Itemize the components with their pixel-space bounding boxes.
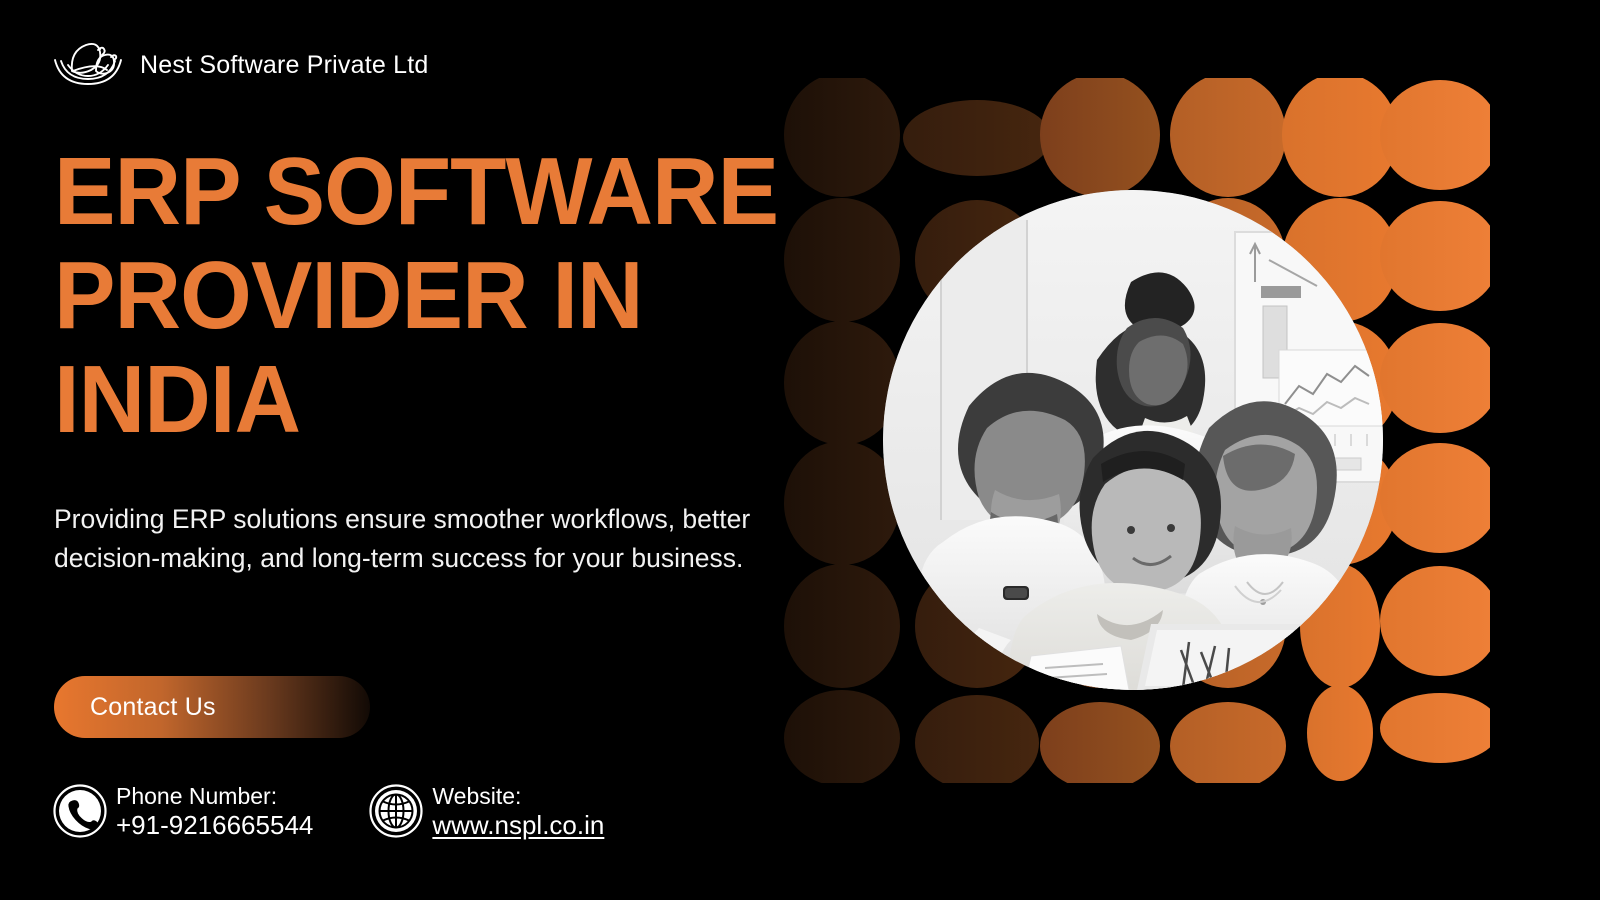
nest-birds-logo-icon (52, 38, 124, 92)
contact-us-button[interactable]: Contact Us (54, 676, 370, 738)
contact-website-value[interactable]: www.nspl.co.in (432, 811, 604, 840)
headline-line-3: INDIA (54, 348, 812, 452)
page-title: ERP SOFTWARE PROVIDER IN INDIA (54, 140, 812, 452)
marketing-banner: Nest Software Private Ltd ERP SOFTWARE P… (0, 0, 1600, 900)
headline-line-2: PROVIDER IN (54, 244, 812, 348)
contact-phone-label: Phone Number: (116, 782, 313, 811)
contact-website-text: Website: www.nspl.co.in (432, 782, 604, 840)
contact-phone[interactable]: Phone Number: +91-9216665544 (52, 782, 313, 840)
contact-website-label: Website: (432, 782, 604, 811)
globe-icon (368, 783, 424, 839)
contact-bar: Phone Number: +91-9216665544 (52, 782, 604, 840)
team-photo (883, 190, 1383, 690)
contact-phone-value: +91-9216665544 (116, 811, 313, 840)
phone-icon (52, 783, 108, 839)
brand-lockup: Nest Software Private Ltd (52, 38, 428, 92)
headline-line-1: ERP SOFTWARE (54, 140, 812, 244)
contact-website[interactable]: Website: www.nspl.co.in (368, 782, 604, 840)
brand-name: Nest Software Private Ltd (140, 51, 428, 80)
subheading-text: Providing ERP solutions ensure smoother … (54, 500, 754, 578)
contact-phone-text: Phone Number: +91-9216665544 (116, 782, 313, 840)
